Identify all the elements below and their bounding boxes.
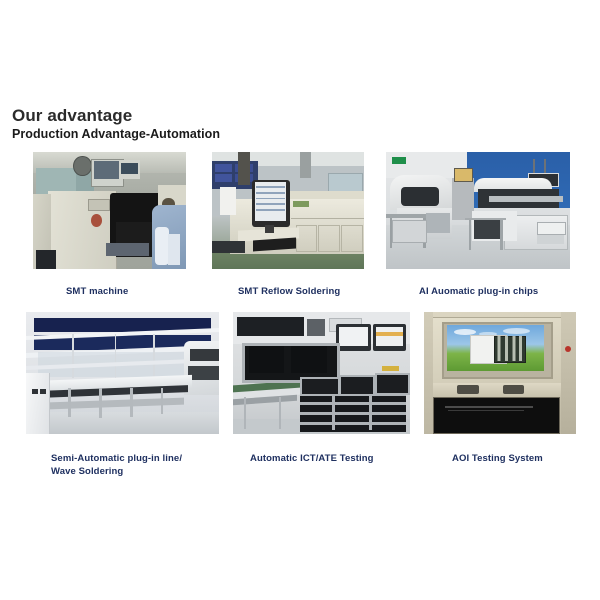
heading-block: Our advantage Production Advantage-Autom… <box>12 106 220 142</box>
scene-insertion-machines <box>386 152 570 269</box>
caption-automatic-ict-ate-testing: Automatic ICT/ATE Testing <box>250 452 425 465</box>
exit-sign-icon <box>392 157 407 164</box>
photo-aoi-testing-system[interactable] <box>424 312 576 434</box>
caption-smt-reflow-soldering: SMT Reflow Soldering <box>238 285 398 298</box>
scene-smt-machine <box>33 152 186 269</box>
caption-semi-automatic-plugin-line: Semi-Automatic plug-in line/ Wave Solder… <box>51 452 236 478</box>
scene-ict-ate-racks <box>233 312 410 434</box>
page-title: Our advantage <box>12 106 220 126</box>
scene-reflow-oven <box>212 152 364 269</box>
caption-ai-automatic-plugin-chips: AI Auomatic plug-in chips <box>419 285 599 298</box>
caption-aoi-testing-system: AOI Testing System <box>452 452 600 465</box>
photo-smt-reflow-soldering[interactable] <box>212 152 364 269</box>
photo-smt-machine[interactable] <box>33 152 186 269</box>
photo-semi-automatic-plugin-line[interactable] <box>26 312 219 434</box>
photo-automatic-ict-ate-testing[interactable] <box>233 312 410 434</box>
page-subtitle: Production Advantage-Automation <box>12 126 220 142</box>
caption-smt-machine: SMT machine <box>66 285 206 298</box>
slide-canvas: Our advantage Production Advantage-Autom… <box>0 0 600 600</box>
photo-ai-automatic-plugin-chips[interactable] <box>386 152 570 269</box>
ceiling-fan-icon <box>73 156 92 177</box>
scene-aoi-station <box>424 312 576 434</box>
scene-assembly-conveyor-line <box>26 312 219 434</box>
